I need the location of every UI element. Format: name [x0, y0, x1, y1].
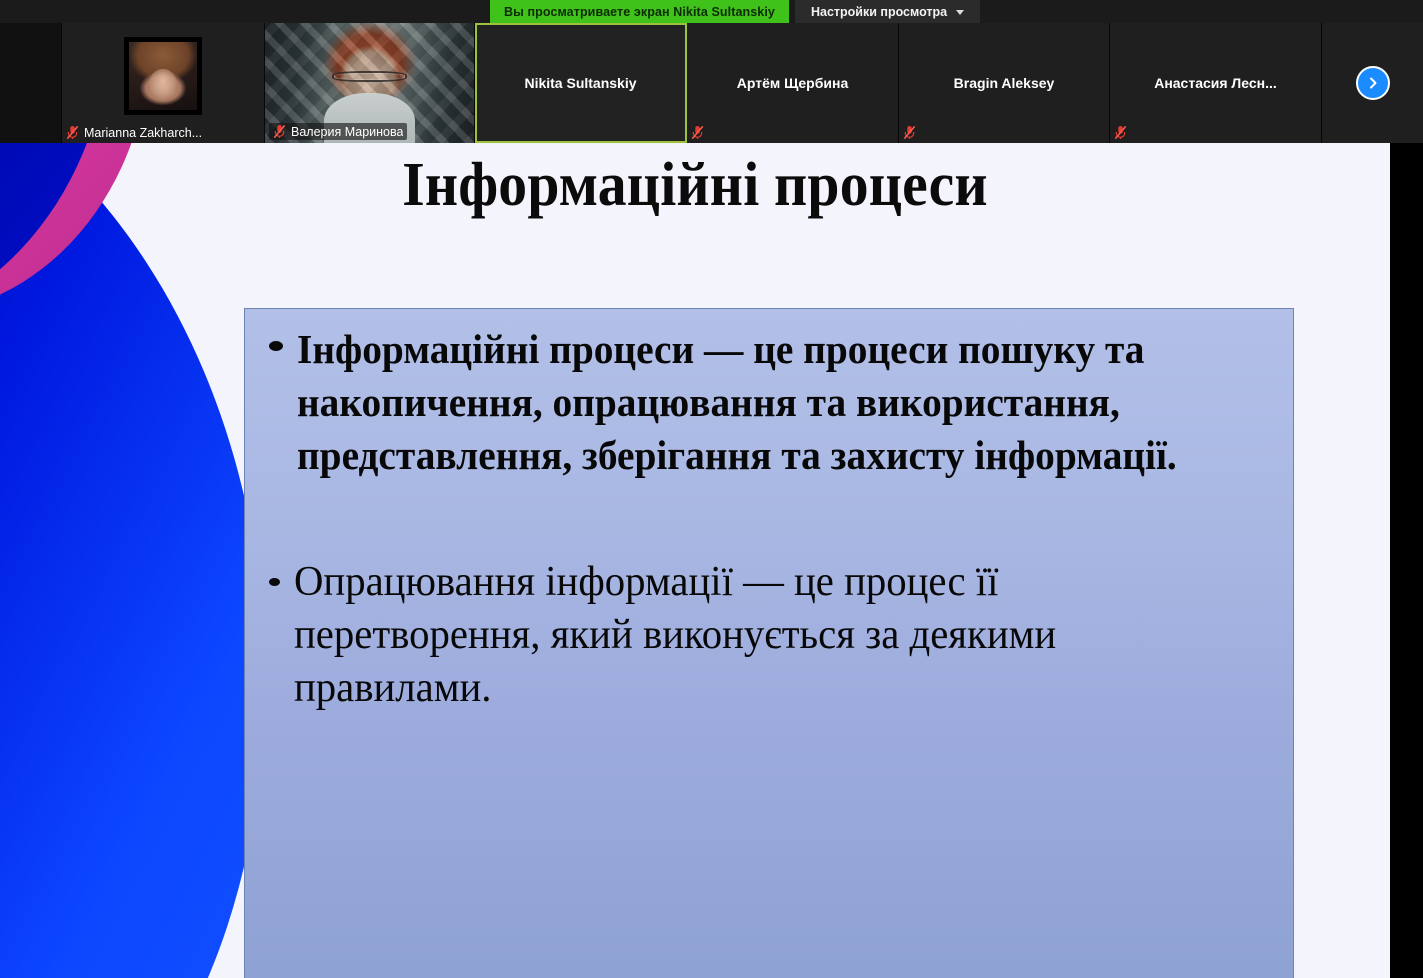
- bullet-item: Інформаційні процеси — це процеси пошуку…: [269, 323, 1271, 482]
- participant-tile-marianna-zakharch[interactable]: Marianna Zakharch...: [62, 23, 265, 143]
- participant-filmstrip[interactable]: Marianna Zakharch... Валерия Маринова Ni…: [0, 23, 1423, 143]
- banner-left-spacer: [0, 0, 490, 23]
- glasses-detail: [332, 71, 407, 82]
- participant-tile-anastasiya-lesn[interactable]: Анастасия Лесн...: [1110, 23, 1322, 143]
- participant-name: Bragin Aleksey: [899, 75, 1109, 91]
- sharing-notice-label: Вы просматриваете экран Nikita Sultanski…: [504, 5, 775, 19]
- participant-name: Marianna Zakharch...: [84, 126, 202, 140]
- microphone-muted-icon: [903, 125, 916, 140]
- participant-footer: [691, 125, 894, 140]
- filmstrip-next-page[interactable]: [1322, 23, 1423, 143]
- bullet-text: Опрацювання інформації — це процес її пе…: [294, 556, 1242, 716]
- bullet-item: Опрацювання інформації — це процес її пе…: [269, 556, 1271, 716]
- participant-name: Анастасия Лесн...: [1110, 75, 1321, 91]
- chevron-down-icon: [956, 10, 964, 15]
- participant-name: Nikita Sultanskiy: [475, 75, 686, 91]
- view-options-label: Настройки просмотра: [811, 5, 947, 19]
- microphone-muted-icon: [273, 124, 286, 139]
- bullet-dot-icon: [269, 341, 283, 351]
- bullet-dot-icon: [269, 578, 280, 586]
- avatar: [124, 37, 202, 115]
- sharing-notice: Вы просматриваете экран Nikita Sultanski…: [490, 0, 789, 23]
- bullet-list: Інформаційні процеси — це процеси пошуку…: [245, 309, 1293, 716]
- participant-tile-bragin-aleksey[interactable]: Bragin Aleksey: [899, 23, 1110, 143]
- view-options-button[interactable]: Настройки просмотра: [795, 0, 980, 23]
- microphone-muted-icon: [1114, 125, 1127, 140]
- screen-share-banner: Вы просматриваете экран Nikita Sultanski…: [0, 0, 1423, 23]
- participant-footer: Marianna Zakharch...: [66, 125, 260, 140]
- right-letterbox: [1390, 143, 1423, 978]
- participant-name: Валерия Маринова: [291, 125, 403, 139]
- microphone-muted-icon: [691, 125, 704, 140]
- participant-name: Артём Щербина: [687, 75, 898, 91]
- shared-slide: Інформаційні процеси Інформаційні процес…: [0, 143, 1390, 978]
- participant-footer: [1114, 125, 1317, 140]
- bullet-text: Інформаційні процеси — це процеси пошуку…: [297, 323, 1232, 482]
- filmstrip-left-pad: [0, 23, 62, 143]
- participant-footer: Валерия Маринова: [269, 123, 407, 140]
- next-page-button[interactable]: [1356, 66, 1390, 100]
- avatar-image: [129, 42, 197, 110]
- microphone-muted-icon: [66, 125, 79, 140]
- participant-footer: [903, 125, 1105, 140]
- slide-title: Інформаційні процеси: [49, 153, 1342, 218]
- chevron-right-icon: [1365, 75, 1381, 91]
- participant-tile-valeriya-marinova[interactable]: Валерия Маринова: [265, 23, 475, 143]
- zoom-screen-share-window: Вы просматриваете экран Nikita Sultanski…: [0, 0, 1423, 978]
- participant-tile-artem-shcherbina[interactable]: Артём Щербина: [687, 23, 899, 143]
- slide-content-box: Інформаційні процеси — це процеси пошуку…: [244, 308, 1294, 978]
- participant-tile-nikita-sultanskiy[interactable]: Nikita Sultanskiy: [475, 23, 687, 143]
